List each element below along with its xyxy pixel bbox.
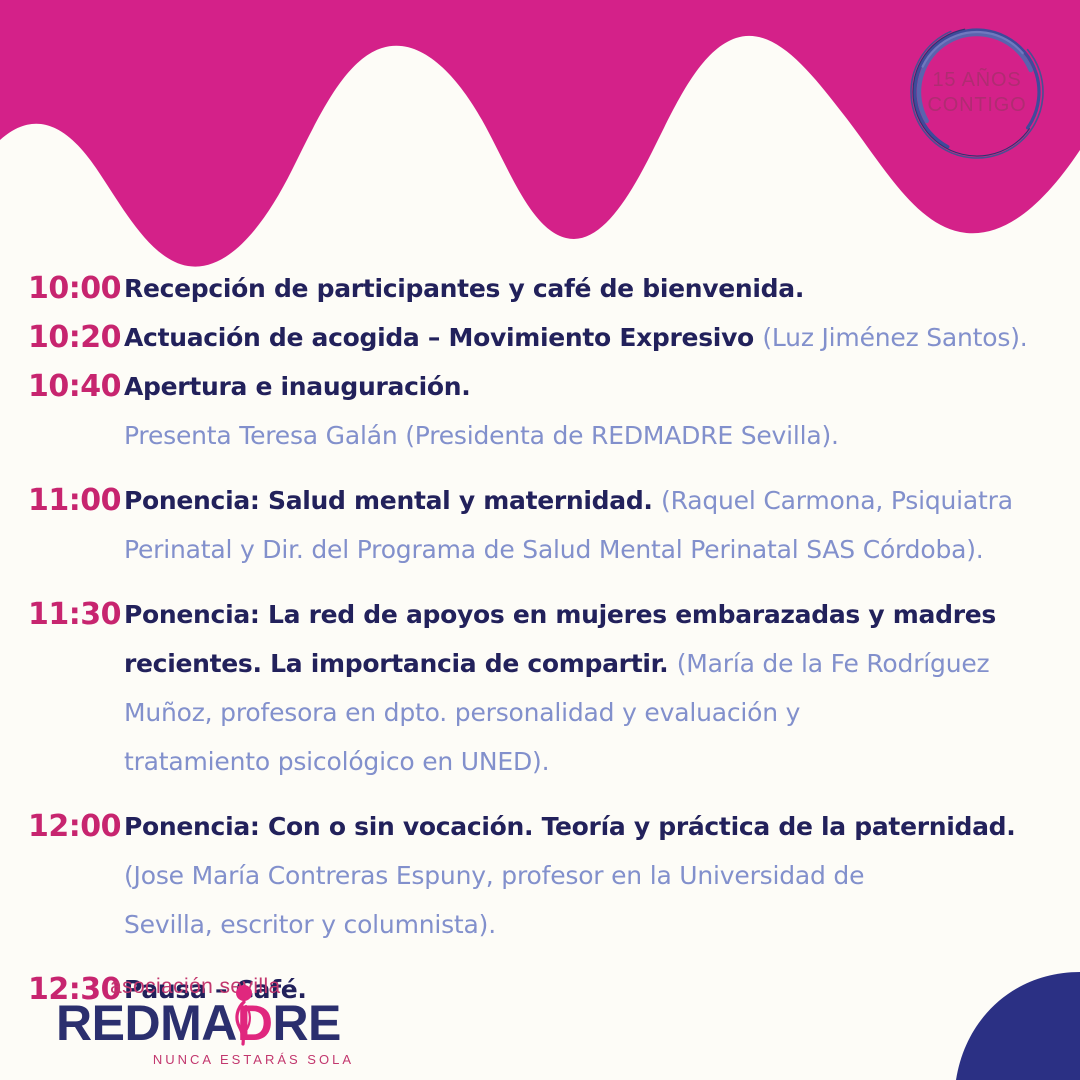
badge-line-contigo: CONTIGO [928,95,1027,115]
schedule-time: 11:00 [28,476,124,525]
row-spacer [0,786,1080,802]
schedule-detail: Sevilla, escritor y columnista). [124,900,1054,949]
schedule-row-continuation: 11:00Perinatal y Dir. del Programa de Sa… [0,525,1080,574]
anniversary-badge: 15 AÑOS CONTIGO [903,18,1051,166]
schedule-detail: Perinatal y Dir. del Programa de Salud M… [124,525,1054,574]
schedule-row-continuation: 11:30Muñoz, profesora en dpto. personali… [0,688,1080,737]
poster-canvas: 15 AÑOS CONTIGO 10:00Recepción de partic… [0,0,1080,1080]
row-spacer [0,460,1080,476]
detail-title: recientes. La importancia de compartir. [124,649,677,678]
detail-speaker: Sevilla, escritor y columnista). [124,910,496,939]
row-spacer [0,949,1080,965]
detail-speaker: (Raquel Carmona, Psiquiatra [661,486,1013,515]
schedule-detail: Apertura e inauguración. [124,362,1054,411]
detail-speaker: (Luz Jiménez Santos). [762,323,1027,352]
detail-title: Recepción de participantes y café de bie… [124,274,804,303]
detail-speaker: (María de la Fe Rodríguez [677,649,990,678]
detail-title: Apertura e inauguración. [124,372,470,401]
schedule-time: 12:00 [28,802,124,851]
redmadre-logo: asociación sevilla REDMADRE NUNCA ESTARÁ… [56,976,356,1068]
schedule-detail: (Jose María Contreras Espuny, profesor e… [124,851,1054,900]
schedule-detail: recientes. La importancia de compartir. … [124,639,1054,688]
mother-child-icon [226,982,260,1046]
schedule-row: 11:30Ponencia: La red de apoyos en mujer… [0,590,1080,639]
schedule-row: 10:20Actuación de acogida – Movimiento E… [0,313,1080,362]
schedule-detail: tratamiento psicológico en UNED). [124,737,1054,786]
logo-word-red: RED [56,995,160,1051]
schedule-list: 10:00Recepción de participantes y café d… [0,264,1080,1014]
schedule-time: 11:30 [28,590,124,639]
detail-speaker: Perinatal y Dir. del Programa de Salud M… [124,535,984,564]
detail-title: Ponencia: Salud mental y maternidad. [124,486,661,515]
schedule-detail: Muñoz, profesora en dpto. personalidad y… [124,688,1054,737]
badge-line-years: 15 AÑOS [933,70,1022,90]
schedule-detail: Ponencia: Salud mental y maternidad. (Ra… [124,476,1054,525]
schedule-detail: Ponencia: La red de apoyos en mujeres em… [124,590,1054,639]
row-spacer [0,574,1080,590]
schedule-time: 10:00 [28,264,124,313]
schedule-time: 10:20 [28,313,124,362]
detail-speaker: Muñoz, profesora en dpto. personalidad y… [124,698,800,727]
schedule-row-continuation: 10:40Presenta Teresa Galán (Presidenta d… [0,411,1080,460]
schedule-row: 11:00Ponencia: Salud mental y maternidad… [0,476,1080,525]
detail-title: Ponencia: Con o sin vocación. Teoría y p… [124,812,1015,841]
schedule-time: 10:40 [28,362,124,411]
detail-title: Actuación de acogida – Movimiento Expres… [124,323,762,352]
schedule-detail: Actuación de acogida – Movimiento Expres… [124,313,1054,362]
schedule-row: 10:00Recepción de participantes y café d… [0,264,1080,313]
detail-speaker: tratamiento psicológico en UNED). [124,747,549,776]
detail-speaker: (Jose María Contreras Espuny, profesor e… [124,861,864,890]
schedule-detail: Recepción de participantes y café de bie… [124,264,1054,313]
logo-word-re: RE [272,995,340,1051]
schedule-row-continuation: 11:30tratamiento psicológico en UNED). [0,737,1080,786]
schedule-row-continuation: 12:00(Jose María Contreras Espuny, profe… [0,851,1080,900]
logo-wordmark: REDMADRE [56,998,356,1049]
schedule-row: 12:00Ponencia: Con o sin vocación. Teorí… [0,802,1080,851]
schedule-row-continuation: 12:00Sevilla, escritor y columnista). [0,900,1080,949]
detail-title: Ponencia: La red de apoyos en mujeres em… [124,600,996,629]
detail-speaker: Presenta Teresa Galán (Presidenta de RED… [124,421,839,450]
schedule-detail: Presenta Teresa Galán (Presidenta de RED… [124,411,1054,460]
logo-tagline: NUNCA ESTARÁS SOLA [56,1052,356,1067]
schedule-detail: Ponencia: Con o sin vocación. Teoría y p… [124,802,1054,851]
schedule-row: 10:40Apertura e inauguración. [0,362,1080,411]
schedule-row-continuation: 11:30recientes. La importancia de compar… [0,639,1080,688]
